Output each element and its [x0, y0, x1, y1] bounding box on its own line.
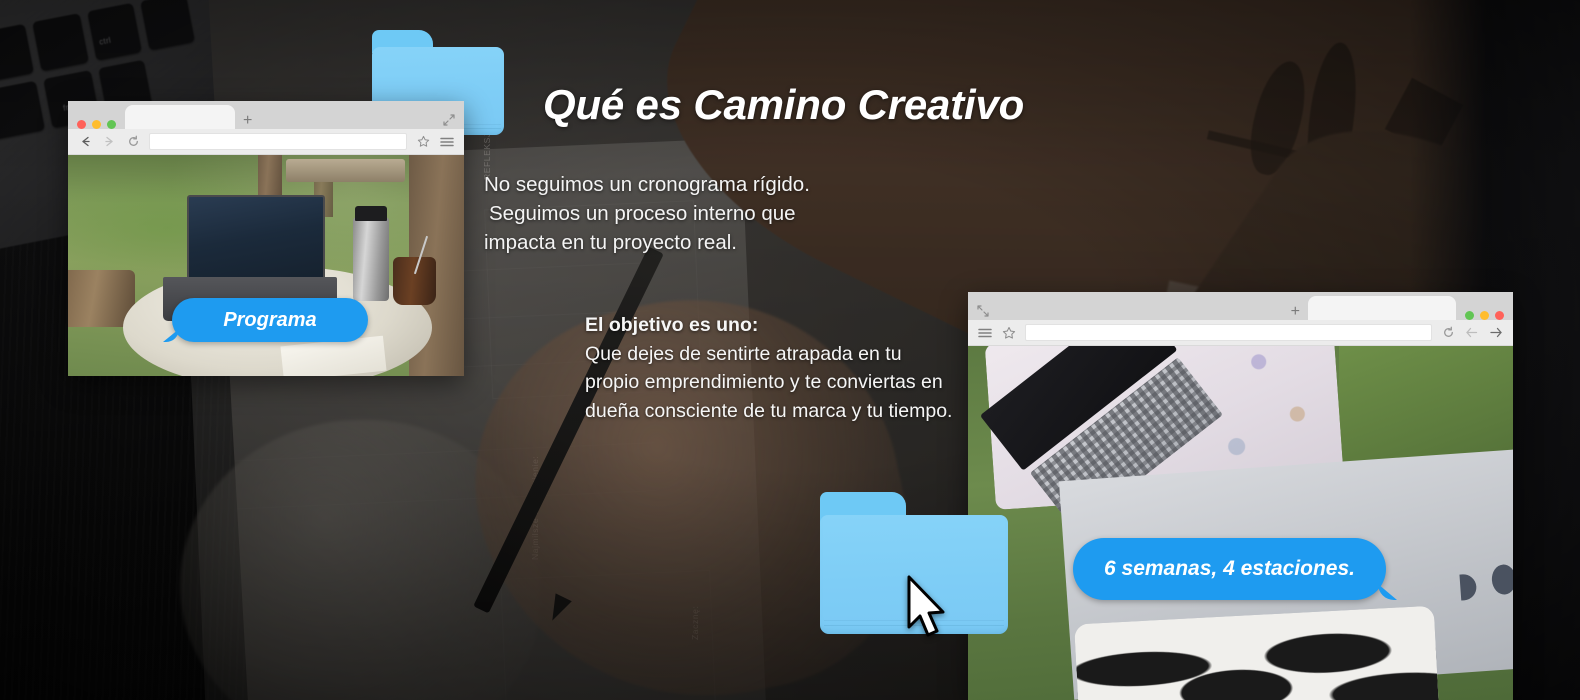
close-window-dot[interactable] [77, 120, 86, 129]
reload-icon[interactable] [122, 132, 144, 152]
forward-arrow-icon[interactable] [1485, 323, 1507, 343]
collapse-diagonal-icon[interactable] [968, 305, 998, 320]
reload-icon[interactable] [1437, 323, 1459, 343]
minimize-window-dot[interactable] [92, 120, 101, 129]
browser-left-toolbar[interactable] [68, 129, 464, 155]
photo-outdoor-blanket [968, 346, 1513, 700]
objective-title: El objetivo es uno: [585, 311, 955, 340]
mouse-cursor-icon [905, 575, 949, 643]
browser-left-tabbar[interactable]: + [68, 101, 464, 129]
forward-arrow-icon[interactable] [98, 132, 120, 152]
chat-bubble-semanas-text: 6 semanas, 4 estaciones. [1104, 557, 1355, 581]
chat-bubble-semanas: 6 semanas, 4 estaciones. [1073, 538, 1386, 600]
objective-block: El objetivo es uno: Que dejes de sentirt… [585, 311, 955, 425]
browser-right-traffic-lights[interactable] [1456, 311, 1513, 320]
browser-tab[interactable] [125, 105, 235, 129]
new-tab-icon[interactable]: + [1283, 304, 1308, 320]
browser-left-viewport [68, 155, 464, 376]
close-window-dot[interactable] [1495, 311, 1504, 320]
browser-window-right[interactable]: + [968, 292, 1513, 700]
photo-outdoor-workspace [68, 155, 464, 376]
star-icon[interactable] [412, 132, 434, 152]
new-tab-icon[interactable]: + [235, 113, 260, 129]
hamburger-menu-icon[interactable] [974, 323, 996, 343]
browser-right-viewport [968, 346, 1513, 700]
intro-line-1: No seguimos un cronograma rígido. [484, 170, 810, 199]
minimize-window-dot[interactable] [1480, 311, 1489, 320]
chat-bubble-programa: Programa [172, 298, 368, 342]
objective-body: Que dejes de sentirte atrapada en tu pro… [585, 343, 952, 422]
expand-diagonal-icon[interactable] [434, 114, 464, 129]
browser-tab[interactable] [1308, 296, 1456, 320]
maximize-window-dot[interactable] [1465, 311, 1474, 320]
page-canvas: ctrl fn REFLEKSJA Najmilsze wspomnienie:… [0, 0, 1580, 700]
browser-left-traffic-lights[interactable] [68, 120, 125, 129]
star-icon[interactable] [998, 323, 1020, 343]
intro-line-2: Seguimos un proceso interno que [484, 199, 810, 228]
intro-paragraph: No seguimos un cronograma rígido. Seguim… [484, 170, 810, 257]
address-bar[interactable] [149, 133, 407, 150]
browser-right-tabbar[interactable]: + [968, 292, 1513, 320]
maximize-window-dot[interactable] [107, 120, 116, 129]
address-bar[interactable] [1025, 324, 1432, 341]
back-arrow-icon[interactable] [1461, 323, 1483, 343]
browser-right-toolbar[interactable] [968, 320, 1513, 346]
hamburger-menu-icon[interactable] [436, 132, 458, 152]
intro-line-3: impacta en tu proyecto real. [484, 228, 810, 257]
chat-bubble-programa-text: Programa [223, 309, 316, 332]
page-title: Qué es Camino Creativo [543, 81, 1024, 129]
back-arrow-icon[interactable] [74, 132, 96, 152]
